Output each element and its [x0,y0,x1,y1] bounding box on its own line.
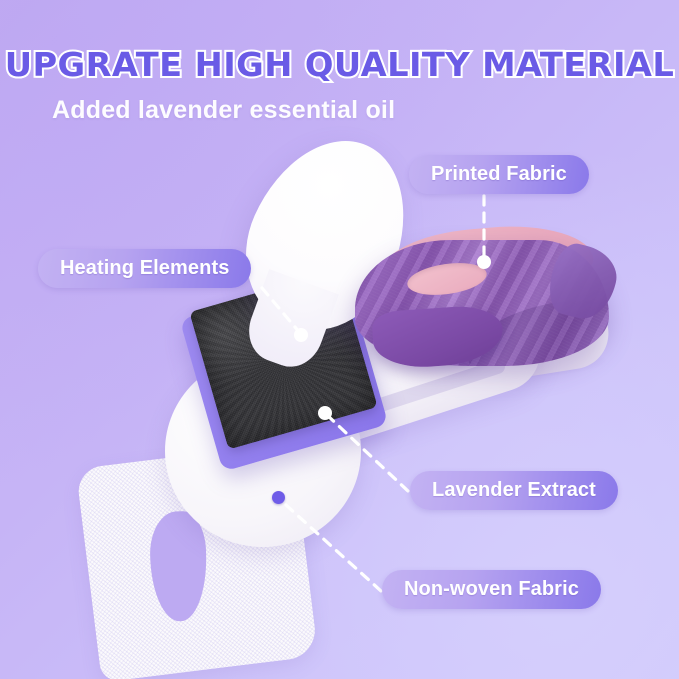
callout-non-woven-fabric[interactable]: Non-woven Fabric [382,570,601,609]
nonwoven-cutout [149,511,207,622]
callout-heating-elements[interactable]: Heating Elements [38,249,251,288]
printed-fabric-layer [355,222,611,370]
header: UPGRATE HIGH QUALITY MATERIAL Added lave… [0,0,679,125]
callout-printed-fabric[interactable]: Printed Fabric [409,155,589,194]
page-title: UPGRATE HIGH QUALITY MATERIAL [0,0,679,84]
lavender-extract-dot [272,491,285,504]
page-subtitle: Added lavender essential oil [0,84,679,125]
callout-lavender-extract[interactable]: Lavender Extract [410,471,618,510]
product-infographic: UPGRATE HIGH QUALITY MATERIAL Added lave… [0,0,679,679]
